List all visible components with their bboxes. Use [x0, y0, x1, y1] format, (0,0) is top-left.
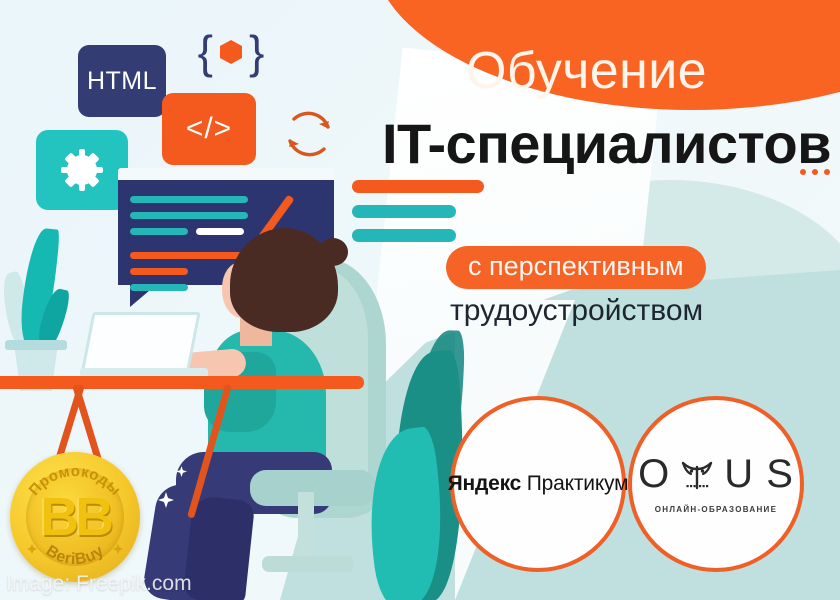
sparkle-icon — [158, 492, 174, 508]
window-dot — [812, 169, 818, 175]
window-dot — [824, 169, 830, 175]
code-tag-label: </> — [162, 93, 256, 165]
hexagon-icon — [220, 40, 242, 64]
gear-card — [36, 130, 128, 210]
yandex-praktikum-logo[interactable]: Яндекс Практикум — [450, 396, 626, 572]
headline-line-2: IT-специалистов — [382, 116, 831, 172]
bar-orange — [352, 180, 484, 193]
promo-banner: Обучение IT-специалистов с перспективным… — [0, 0, 840, 600]
gear-icon — [59, 147, 105, 193]
html-card: HTML — [78, 45, 166, 117]
html-card-label: HTML — [78, 45, 166, 117]
owl-t-icon — [679, 454, 715, 494]
code-line — [130, 196, 248, 203]
otus-wordmark: O — [638, 454, 794, 494]
code-line — [130, 212, 248, 219]
coin-monogram: BB — [10, 452, 140, 582]
headline-line-1: Обучение — [466, 45, 707, 97]
code-tag-card: </> — [162, 93, 256, 165]
yandex-praktikum-label: Яндекс Практикум — [448, 472, 629, 496]
refresh-arrows-icon — [278, 103, 340, 165]
code-line — [130, 252, 242, 259]
brace-right: } — [249, 29, 264, 75]
person-hair-bun — [318, 238, 348, 266]
chair-foot — [262, 556, 354, 572]
window-dots — [800, 169, 830, 175]
otus-logo[interactable]: O — [628, 396, 804, 572]
sparkle-icon — [176, 466, 187, 477]
praktikum-light: Практикум — [521, 472, 628, 495]
yandex-bold: Яндекс — [448, 472, 522, 495]
beribuy-promo-coin[interactable]: Промокоды BeriBuy BB — [10, 452, 140, 582]
brace-left: { — [198, 29, 213, 75]
code-line — [130, 284, 188, 291]
code-line — [130, 228, 188, 235]
subtitle-line: трудоустройством — [450, 296, 703, 326]
otus-subtitle: ОНЛАЙН-ОБРАЗОВАНИЕ — [655, 505, 778, 514]
bar-teal-1 — [352, 205, 456, 218]
code-line — [196, 228, 244, 235]
freepik-watermark: Image: Freepik.com — [6, 572, 192, 596]
otus-letter-o: O — [638, 454, 670, 494]
braces-group: { } — [192, 24, 270, 80]
desk-top — [0, 376, 364, 389]
bar-teal-2 — [352, 229, 456, 242]
plant-pot-rim — [5, 340, 67, 350]
window-dot — [800, 169, 806, 175]
subtitle-pill: с перспективным — [446, 246, 706, 289]
code-line — [130, 268, 188, 275]
otus-letters-us: U S — [724, 454, 794, 494]
